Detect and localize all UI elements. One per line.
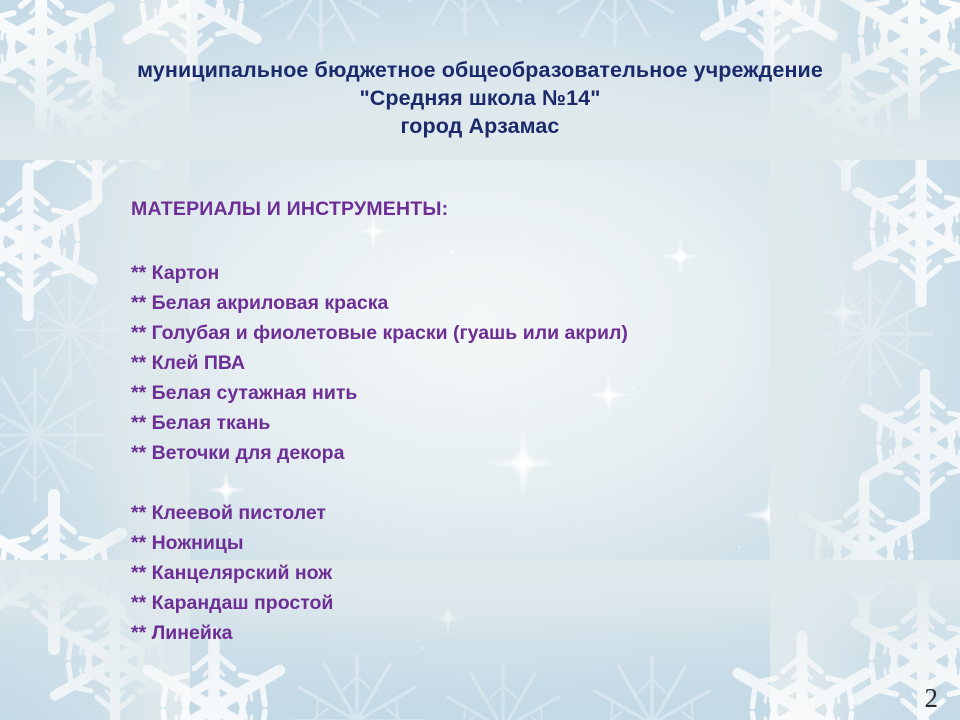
header-line-2: "Средняя школа №14" <box>0 84 960 112</box>
list-item: ** Белая акриловая краска <box>131 288 628 318</box>
list-item: ** Веточки для декора <box>131 438 628 468</box>
list-item: ** Клей ПВА <box>131 348 628 378</box>
slide-body: МАТЕРИАЛЫ И ИНСТРУМЕНТЫ: ** Картон ** Бе… <box>131 196 628 648</box>
list-item: ** Канцелярский нож <box>131 558 628 588</box>
list-item: ** Ножницы <box>131 528 628 558</box>
header-line-3: город Арзамас <box>0 112 960 140</box>
list-item: ** Карандаш простой <box>131 588 628 618</box>
page-number: 2 <box>925 682 939 714</box>
list-item: ** Голубая и фиолетовые краски (гуашь ил… <box>131 318 628 348</box>
section-heading: МАТЕРИАЛЫ И ИНСТРУМЕНТЫ: <box>131 196 628 222</box>
tools-list: ** Клеевой пистолет ** Ножницы ** Канцел… <box>131 498 628 648</box>
list-item: ** Линейка <box>131 618 628 648</box>
slide-header: муниципальное бюджетное общеобразователь… <box>0 56 960 140</box>
presentation-slide: муниципальное бюджетное общеобразователь… <box>0 0 960 720</box>
list-item: ** Белая сутажная нить <box>131 378 628 408</box>
list-item: ** Белая ткань <box>131 408 628 438</box>
list-item: ** Клеевой пистолет <box>131 498 628 528</box>
materials-list: ** Картон ** Белая акриловая краска ** Г… <box>131 258 628 468</box>
header-line-1: муниципальное бюджетное общеобразователь… <box>0 56 960 84</box>
list-separator <box>131 468 628 498</box>
list-item: ** Картон <box>131 258 628 288</box>
